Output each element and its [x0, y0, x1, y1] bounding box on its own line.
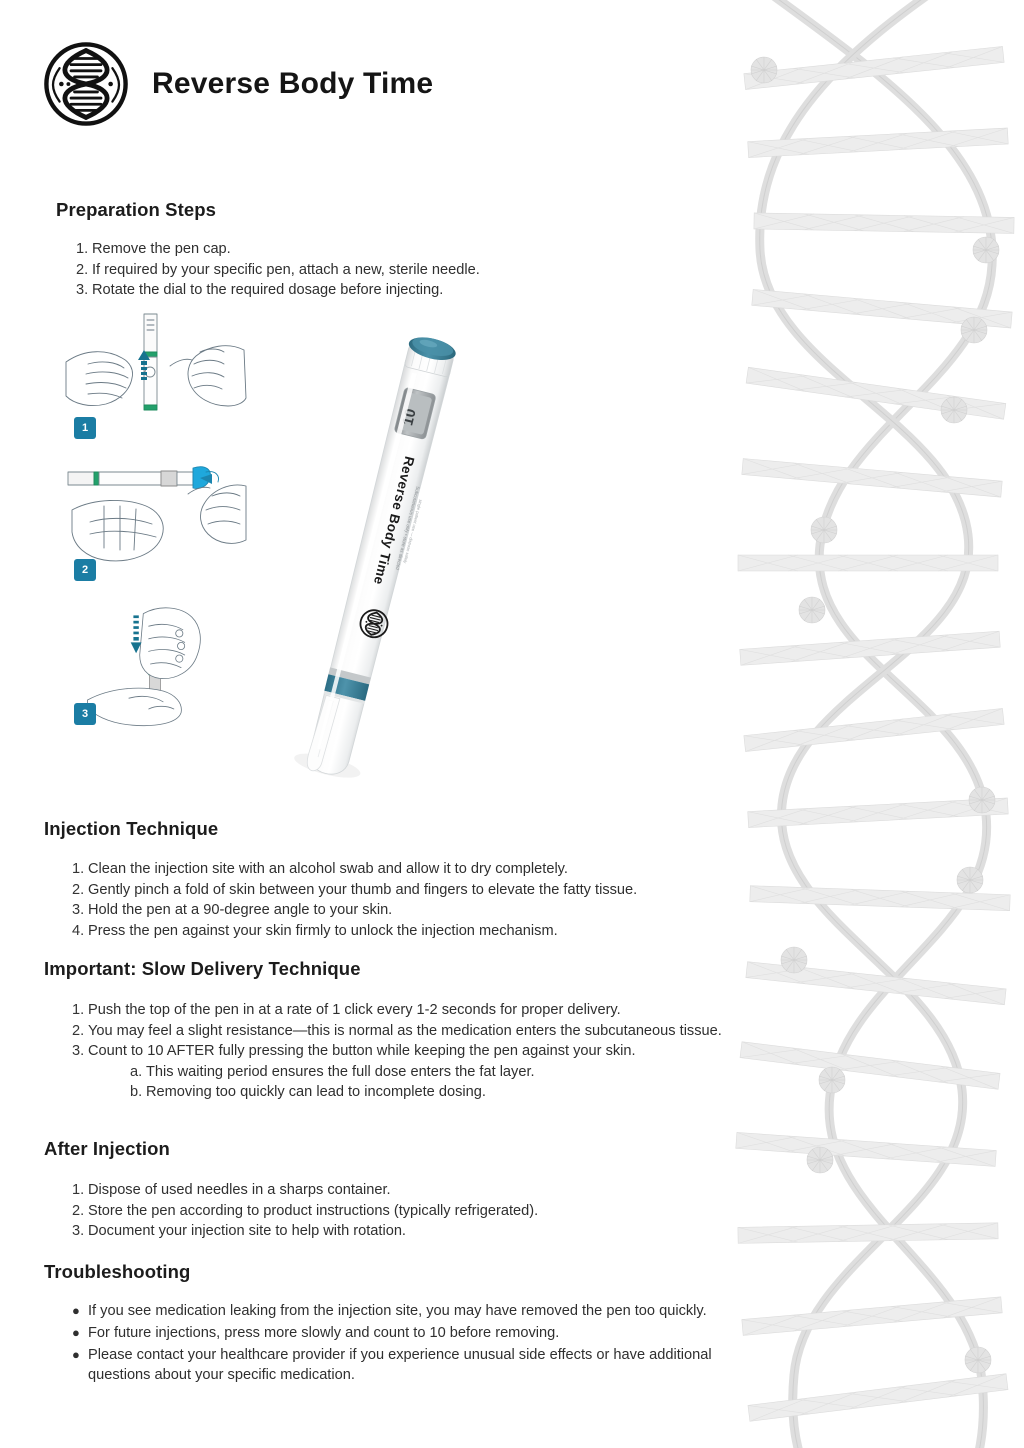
list-text: You may feel a slight resistance—this is…: [88, 1022, 752, 1042]
list-text: Press the pen against your skin firmly t…: [88, 922, 742, 942]
brand-title: Reverse Body Time: [152, 67, 433, 101]
list-text: Please contact your healthcare provider …: [88, 1345, 742, 1385]
list-marker: 3.: [42, 901, 88, 921]
sub-list-text: Removing too quickly can lead to incompl…: [146, 1083, 752, 1103]
illustration-step-1: 1: [60, 312, 250, 447]
section-heading-slow-delivery: Important: Slow Delivery Technique: [44, 958, 361, 980]
sub-list-item: b. Removing too quickly can lead to inco…: [42, 1083, 752, 1103]
list-item: 1. Remove the pen cap.: [46, 240, 706, 260]
list-marker: 2.: [42, 881, 88, 901]
list-marker: 3.: [46, 281, 92, 301]
list-text: Gently pinch a fold of skin between your…: [88, 881, 742, 901]
list-text: Remove the pen cap.: [92, 240, 706, 260]
illustration-step-3: 3: [60, 592, 250, 727]
list-text: For future injections, press more slowly…: [88, 1323, 742, 1343]
dna-circle-logo-icon: [42, 40, 130, 128]
bullet-icon: ●: [42, 1345, 88, 1365]
list-marker: 2.: [42, 1202, 88, 1222]
list-item: 3. Document your injection site to help …: [42, 1222, 722, 1242]
list-marker: 1.: [42, 1181, 88, 1201]
list-item: 3. Hold the pen at a 90-degree angle to …: [42, 901, 742, 921]
injection-pen-photo: 10 Reverse Body Time Subcutaneous use on…: [255, 300, 505, 800]
sub-list-text: This waiting period ensures the full dos…: [146, 1063, 752, 1083]
page-header: Reverse Body Time: [42, 40, 433, 128]
list-marker: 4.: [42, 922, 88, 942]
list-text: Rotate the dial to the required dosage b…: [92, 281, 706, 301]
list-text: Count to 10 AFTER fully pressing the but…: [88, 1042, 752, 1062]
after-injection-list: 1. Dispose of used needles in a sharps c…: [42, 1181, 722, 1243]
list-item: 4. Press the pen against your skin firml…: [42, 922, 742, 942]
list-item: 1. Clean the injection site with an alco…: [42, 860, 742, 880]
illustration-step-2: 2: [60, 452, 250, 587]
list-text: Hold the pen at a 90-degree angle to you…: [88, 901, 742, 921]
list-item: 1. Push the top of the pen in at a rate …: [42, 1001, 752, 1021]
sub-list-item: a. This waiting period ensures the full …: [42, 1063, 752, 1083]
illustration-column: 1: [60, 312, 260, 732]
list-text: Dispose of used needles in a sharps cont…: [88, 1181, 722, 1201]
step-badge-2: 2: [74, 559, 96, 581]
list-text: If you see medication leaking from the i…: [88, 1301, 742, 1321]
preparation-steps-list: 1. Remove the pen cap. 2. If required by…: [46, 240, 706, 302]
section-heading-after-injection: After Injection: [44, 1138, 170, 1160]
list-item: ● For future injections, press more slow…: [42, 1323, 742, 1343]
list-marker: 3.: [42, 1042, 88, 1062]
bullet-icon: ●: [42, 1323, 88, 1343]
list-item: ● If you see medication leaking from the…: [42, 1301, 742, 1321]
list-item: 3. Count to 10 AFTER fully pressing the …: [42, 1042, 752, 1062]
list-item: 1. Dispose of used needles in a sharps c…: [42, 1181, 722, 1201]
list-marker: 1.: [46, 240, 92, 260]
list-marker: 2.: [42, 1022, 88, 1042]
list-marker: 2.: [46, 261, 92, 281]
section-heading-preparation: Preparation Steps: [56, 199, 216, 221]
section-heading-injection-technique: Injection Technique: [44, 818, 218, 840]
list-text: If required by your specific pen, attach…: [92, 261, 706, 281]
list-marker: 1.: [42, 860, 88, 880]
step-badge-1: 1: [74, 417, 96, 439]
list-item: 2. If required by your specific pen, att…: [46, 261, 706, 281]
slow-delivery-list: 1. Push the top of the pen in at a rate …: [42, 1001, 752, 1104]
list-item: 2. Store the pen according to product in…: [42, 1202, 722, 1222]
list-item: 2. Gently pinch a fold of skin between y…: [42, 881, 742, 901]
list-marker: 3.: [42, 1222, 88, 1242]
list-text: Document your injection site to help wit…: [88, 1222, 722, 1242]
list-text: Store the pen according to product instr…: [88, 1202, 722, 1222]
sub-list-marker: b.: [42, 1083, 146, 1103]
list-marker: 1.: [42, 1001, 88, 1021]
step-badge-3: 3: [74, 703, 96, 725]
sub-list-marker: a.: [42, 1063, 146, 1083]
bullet-icon: ●: [42, 1301, 88, 1321]
troubleshooting-list: ● If you see medication leaking from the…: [42, 1301, 742, 1387]
list-item: 2. You may feel a slight resistance—this…: [42, 1022, 752, 1042]
list-item: ● Please contact your healthcare provide…: [42, 1345, 742, 1385]
injection-technique-list: 1. Clean the injection site with an alco…: [42, 860, 742, 942]
list-text: Push the top of the pen in at a rate of …: [88, 1001, 752, 1021]
list-text: Clean the injection site with an alcohol…: [88, 860, 742, 880]
section-heading-troubleshooting: Troubleshooting: [44, 1261, 190, 1283]
list-item: 3. Rotate the dial to the required dosag…: [46, 281, 706, 301]
